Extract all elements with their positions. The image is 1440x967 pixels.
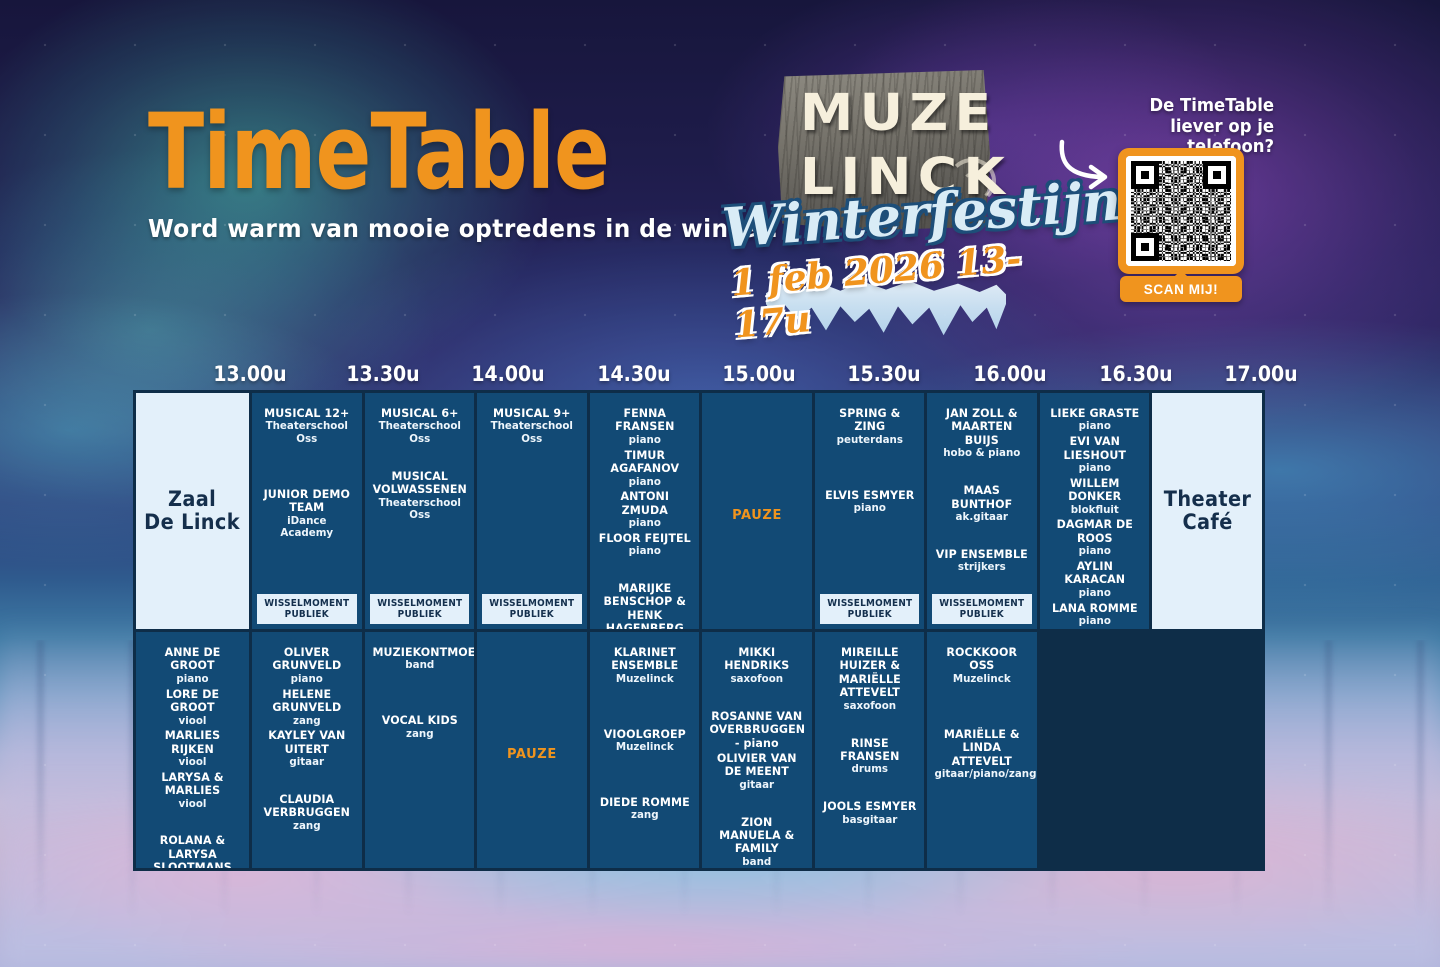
act-role: piano xyxy=(1047,587,1142,600)
act-role: saxofoon xyxy=(822,700,917,713)
act-item: EVI VAN LIESHOUTpiano xyxy=(1046,435,1144,475)
act-role: piano xyxy=(144,673,242,686)
act-role: Muzelinck xyxy=(597,741,692,754)
act-role: piano xyxy=(597,434,692,447)
act-name: OLIVIER VAN DE MEENT xyxy=(710,752,805,779)
act-item: OLIVIER VAN DE MEENTgitaar xyxy=(708,752,806,792)
act-role: band xyxy=(710,856,805,868)
act-role: band xyxy=(372,659,467,672)
slot-r1-c6[interactable]: MIREILLE HUIZER & MARIËLLE ATTEVELTsaxof… xyxy=(815,632,925,868)
act-name: LIEKE GRASTE xyxy=(1047,407,1142,420)
pauze-label: PAUZE xyxy=(483,747,581,762)
act-item: MUSICAL 12+Theaterschool Oss xyxy=(258,407,356,446)
act-item: FLOOR FEIJTELpiano xyxy=(596,532,694,558)
act-role: piano xyxy=(259,673,354,686)
act-item: MARIËLLE & LINDA ATTEVELTgitaar/piano/za… xyxy=(933,728,1031,781)
act-name: MARLIES RIJKEN xyxy=(144,729,242,756)
slot-r0-c1[interactable]: MUSICAL 6+Theaterschool OssMUSICAL VOLWA… xyxy=(365,393,475,629)
act-item: MAAS BUNTHOFak.gitaar xyxy=(933,484,1031,524)
act-role: viool xyxy=(144,756,242,769)
act-role: basgitaar xyxy=(822,814,917,827)
act-name: RINSE FRANSEN xyxy=(822,737,917,764)
act-item: OLIVER GRUNVELDpiano xyxy=(258,646,356,686)
act-role: Theaterschool Oss xyxy=(485,420,580,445)
pauze-label: PAUZE xyxy=(708,508,806,523)
slot-r0-c0[interactable]: MUSICAL 12+Theaterschool OssJUNIOR DEMO … xyxy=(252,393,362,629)
act-item: WILLEM DONKERblokfluit xyxy=(1046,477,1144,517)
act-role: Muzelinck xyxy=(597,673,692,686)
act-role: blokfluit xyxy=(1047,504,1142,517)
act-item: JUNIOR DEMO TEAMiDance Academy xyxy=(258,488,356,540)
qr-finder-top-right xyxy=(1203,161,1231,189)
act-role: Theaterschool Oss xyxy=(372,420,467,445)
time-label-3: 14.30u xyxy=(585,362,684,386)
act-name: AYLIN KARACAN xyxy=(1047,560,1142,587)
act-name: MIKKI HENDRIKS xyxy=(710,646,805,673)
time-label-7: 16.30u xyxy=(1087,362,1186,386)
act-item: MUSICAL 9+Theaterschool Oss xyxy=(483,407,581,446)
act-role: piano xyxy=(822,502,917,515)
slot-r0-c2[interactable]: MUSICAL 9+Theaterschool OssWISSELMOMENT … xyxy=(477,393,587,629)
act-item: KLARINET ENSEMBLEMuzelinck xyxy=(596,646,694,686)
act-role: peuterdans xyxy=(822,434,917,447)
act-role: hobo & piano xyxy=(935,447,1030,460)
wisselmoment-banner: WISSELMOMENT PUBLIEK xyxy=(257,594,357,624)
qr-block[interactable]: De TimeTable liever op je telefoon? SCAN… xyxy=(1064,96,1274,311)
act-name: ELVIS ESMYER xyxy=(822,489,917,502)
act-role: viool xyxy=(144,715,242,728)
act-item: VOCAL KIDSzang xyxy=(371,714,469,740)
act-item: VIOOLGROEPMuzelinck xyxy=(596,728,694,754)
slot-r0-c3[interactable]: FENNA FRANSENpianoTIMUR AGAFANOVpianoANT… xyxy=(590,393,700,629)
qr-code[interactable] xyxy=(1118,148,1244,274)
act-role: zang xyxy=(259,715,354,728)
act-name: FLOOR FEIJTEL xyxy=(597,532,692,545)
act-role: piano xyxy=(1047,462,1142,475)
curved-arrow-icon xyxy=(1058,136,1118,194)
act-item: MIKKI HENDRIKSsaxofoon xyxy=(708,646,806,686)
room-label-0: ZaalDe Linck xyxy=(136,393,249,629)
slot-r1-c2[interactable]: MUZIEKONTMOETINGbandVOCAL KIDSzang xyxy=(365,632,475,868)
act-item: MARLIES RIJKENviool xyxy=(142,729,243,769)
act-name: MUSICAL 9+ xyxy=(485,407,580,420)
act-item: SPRING & ZINGpeuterdans xyxy=(821,407,919,447)
wisselmoment-banner: WISSELMOMENT PUBLIEK xyxy=(370,594,470,624)
wisselmoment-banner: WISSELMOMENT PUBLIEK xyxy=(482,594,582,624)
act-role: Muzelinck xyxy=(935,673,1030,686)
time-label-6: 16.00u xyxy=(961,362,1060,386)
act-item: LORE DE GROOTviool xyxy=(142,688,243,728)
act-name: SPRING & ZING xyxy=(822,407,917,434)
act-item: MUZIEKONTMOETINGband xyxy=(371,646,469,672)
wisselmoment-banner: WISSELMOMENT PUBLIEK xyxy=(820,594,920,624)
time-label-4: 15.00u xyxy=(710,362,809,386)
scan-me-button[interactable]: SCAN MIJ! xyxy=(1120,276,1242,302)
act-item: ROSANNE VAN OVERBRUGGEN - piano xyxy=(708,710,806,750)
act-name: WILLEM DONKER xyxy=(1047,477,1142,504)
slot-r1-c1[interactable]: OLIVER GRUNVELDpianoHELENE GRUNVELDzangK… xyxy=(252,632,362,868)
act-name: KLARINET ENSEMBLE xyxy=(597,646,692,673)
act-role: gitaar xyxy=(710,779,805,792)
act-name: OLIVER GRUNVELD xyxy=(259,646,354,673)
time-label-2: 14.00u xyxy=(459,362,558,386)
wisselmoment-banner: WISSELMOMENT PUBLIEK xyxy=(932,594,1032,624)
act-item: ANTONI ZMUDApiano xyxy=(596,490,694,530)
act-role: strijkers xyxy=(935,561,1030,574)
act-item: JOOLS ESMYERbasgitaar xyxy=(821,800,919,826)
act-item: FENNA FRANSENpiano xyxy=(596,407,694,447)
act-name: EVI VAN LIESHOUT xyxy=(1047,435,1142,462)
act-role: zang xyxy=(259,820,354,833)
act-name: DIEDE ROMME xyxy=(597,796,692,809)
room-label-1: TheaterCafé xyxy=(1152,393,1262,629)
act-name: ROCKKOOR OSS xyxy=(935,646,1030,673)
page-title: TimeTable xyxy=(148,104,745,202)
act-name: TIMUR AGAFANOV xyxy=(597,449,692,476)
act-name: LORE DE GROOT xyxy=(144,688,242,715)
time-label-0: 13.00u xyxy=(201,362,300,386)
festival-logo: MUZE LINCK Winterfestijn 1 feb 2026 13-1… xyxy=(720,62,1070,322)
act-role: piano xyxy=(597,476,692,489)
act-item: DAGMAR DE ROOSpiano xyxy=(1046,518,1144,558)
act-item: ANNE DE GROOTpiano xyxy=(142,646,243,686)
act-item: RINSE FRANSENdrums xyxy=(821,737,919,777)
slot-r0-c6[interactable]: JAN ZOLL & MAARTEN BUIJShobo & pianoMAAS… xyxy=(927,393,1037,629)
slot-r1-c3[interactable]: PAUZE xyxy=(477,632,587,868)
act-role: gitaar/piano/zang xyxy=(935,768,1030,781)
act-name: JUNIOR DEMO TEAM xyxy=(259,488,354,515)
act-name: KAYLEY VAN UITERT xyxy=(259,729,354,756)
slot-r0-c7[interactable]: LIEKE GRASTEpianoEVI VAN LIESHOUTpianoWI… xyxy=(1040,393,1150,629)
act-item: JAN ZOLL & MAARTEN BUIJShobo & piano xyxy=(933,407,1031,460)
act-name: ROSANNE VAN OVERBRUGGEN - piano xyxy=(710,710,805,750)
qr-finder-top-left xyxy=(1131,161,1159,189)
act-name: LARYSA & MARLIES xyxy=(144,771,242,798)
act-role: Theaterschool Oss xyxy=(259,420,354,445)
act-name: VOCAL KIDS xyxy=(372,714,467,727)
act-item: MARIJKE BENSCHOP & HENK HAGENBERGpiano 4… xyxy=(596,582,694,629)
act-role: piano xyxy=(1047,420,1142,433)
slot-r1-c0[interactable]: ANNE DE GROOTpianoLORE DE GROOTvioolMARL… xyxy=(136,632,249,868)
act-name: MIREILLE HUIZER & MARIËLLE ATTEVELT xyxy=(822,646,917,700)
act-item: ROLANA & LARYSA SLOOTMANSdrums xyxy=(142,834,243,868)
slot-r0-c4[interactable]: PAUZE xyxy=(702,393,812,629)
act-item: MUSICAL 6+Theaterschool Oss xyxy=(371,407,469,446)
act-role: drums xyxy=(822,763,917,776)
act-role: iDance Academy xyxy=(259,515,354,540)
logo-line-muze: MUZE xyxy=(800,84,997,143)
time-label-8: 17.00u xyxy=(1212,362,1311,386)
act-role: zang xyxy=(372,728,467,741)
slot-r1-c7[interactable]: ROCKKOOR OSSMuzelinckMARIËLLE & LINDA AT… xyxy=(927,632,1037,868)
act-item: CLAUDIA VERBRUGGENzang xyxy=(258,793,356,833)
time-label-1: 13.30u xyxy=(334,362,433,386)
act-item: VIP ENSEMBLEstrijkers xyxy=(933,548,1031,574)
act-name: HELENE GRUNVELD xyxy=(259,688,354,715)
act-role: piano xyxy=(1047,545,1142,558)
time-axis: 13.00u13.30u14.00u14.30u15.00u15.30u16.0… xyxy=(0,362,1440,388)
act-name: VIOOLGROEP xyxy=(597,728,692,741)
time-label-5: 15.30u xyxy=(835,362,934,386)
act-item: ROCKKOOR OSSMuzelinck xyxy=(933,646,1031,686)
act-item: ZION MANUELA & FAMILYband xyxy=(708,816,806,868)
act-role: ak.gitaar xyxy=(935,511,1030,524)
act-item: TIMUR AGAFANOVpiano xyxy=(596,449,694,489)
act-name: MUZIEKONTMOETING xyxy=(372,646,467,659)
act-item: LIEKE GRASTEpiano xyxy=(1046,407,1144,433)
act-name: MUSICAL 6+ xyxy=(372,407,467,420)
act-name: MARIËLLE & LINDA ATTEVELT xyxy=(935,728,1030,768)
act-name: MUSICAL 12+ xyxy=(259,407,354,420)
act-item: KAYLEY VAN UITERTgitaar xyxy=(258,729,356,769)
act-item: MUSICAL VOLWASSENENTheaterschool Oss xyxy=(371,470,469,522)
act-role: gitaar xyxy=(259,756,354,769)
act-name: MAAS BUNTHOF xyxy=(935,484,1030,511)
act-role: piano xyxy=(1047,615,1142,628)
act-name: MARIJKE BENSCHOP & HENK HAGENBERG xyxy=(597,582,692,629)
act-name: LANA ROMME xyxy=(1047,602,1142,615)
act-name: FENNA FRANSEN xyxy=(597,407,692,434)
act-item: AYLIN KARACANpiano xyxy=(1046,560,1144,600)
act-role: saxofoon xyxy=(710,673,805,686)
slot-r1-c4[interactable]: KLARINET ENSEMBLEMuzelinckVIOOLGROEPMuze… xyxy=(590,632,700,868)
act-name: VIP ENSEMBLE xyxy=(935,548,1030,561)
act-item: DIEDE ROMMEzang xyxy=(596,796,694,822)
act-role: piano xyxy=(597,517,692,530)
act-name: ANTONI ZMUDA xyxy=(597,490,692,517)
timetable-poster: TimeTable Word warm van mooie optredens … xyxy=(0,0,1440,967)
act-role: piano xyxy=(597,545,692,558)
act-name: ANNE DE GROOT xyxy=(144,646,242,673)
act-role: Theaterschool Oss xyxy=(372,497,467,522)
qr-finder-bottom-left xyxy=(1131,233,1159,261)
act-name: JAN ZOLL & MAARTEN BUIJS xyxy=(935,407,1030,447)
schedule-grid: ZaalDe LinckMUSICAL 12+Theaterschool Oss… xyxy=(133,390,1265,871)
page-tagline: Word warm van mooie optredens in de wint… xyxy=(148,214,779,243)
act-name: CLAUDIA VERBRUGGEN xyxy=(259,793,354,820)
act-item: HELENE GRUNVELDzang xyxy=(258,688,356,728)
act-role: viool xyxy=(144,798,242,811)
act-item: MIREILLE HUIZER & MARIËLLE ATTEVELTsaxof… xyxy=(821,646,919,713)
act-role: zang xyxy=(597,809,692,822)
slot-r1-c5[interactable]: MIKKI HENDRIKSsaxofoonROSANNE VAN OVERBR… xyxy=(702,632,812,868)
act-name: ZION MANUELA & FAMILY xyxy=(710,816,805,856)
act-name: MUSICAL VOLWASSENEN xyxy=(372,470,467,497)
act-name: ROLANA & LARYSA SLOOTMANS xyxy=(144,834,242,868)
act-name: JOOLS ESMYER xyxy=(822,800,917,813)
act-item: LARYSA & MARLIESviool xyxy=(142,771,243,811)
act-item: ELVIS ESMYERpiano xyxy=(821,489,919,515)
act-item: LANA ROMMEpiano xyxy=(1046,602,1144,628)
slot-r0-c5[interactable]: SPRING & ZINGpeuterdansELVIS ESMYERpiano… xyxy=(815,393,925,629)
act-name: DAGMAR DE ROOS xyxy=(1047,518,1142,545)
